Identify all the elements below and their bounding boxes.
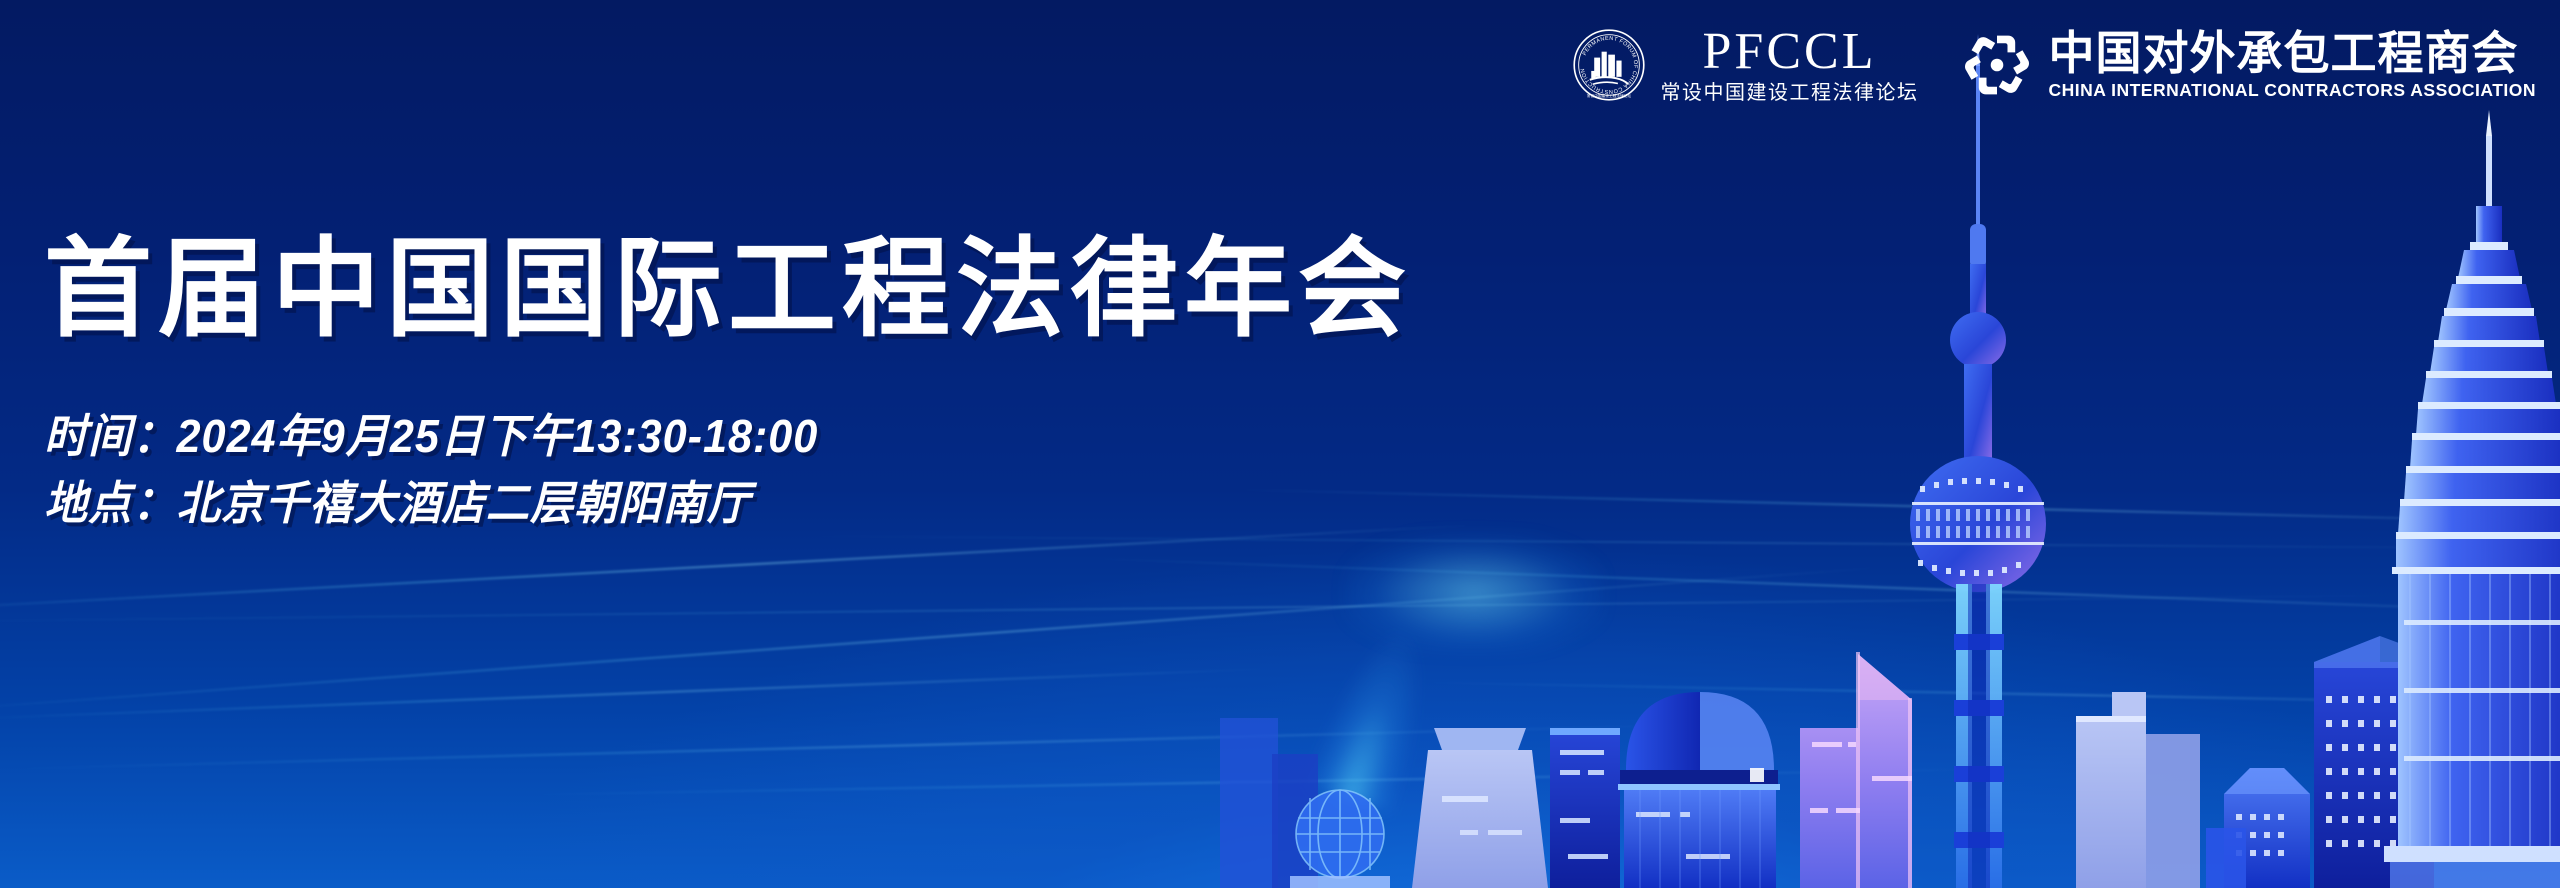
event-details: 时间：2024年9月25日下午13:30-18:00 地点：北京千禧大酒店二层朝… xyxy=(44,403,1412,536)
event-time: 时间：2024年9月25日下午13:30-18:00 xyxy=(44,403,1330,470)
pfccl-acronym: PFCCL xyxy=(1702,26,1876,78)
city-skyline-illustration xyxy=(1220,28,2560,888)
cica-logo: 中国对外承包工程商会 CHINA INTERNATIONAL CONTRACTO… xyxy=(1962,30,2536,100)
cica-pinwheel-icon xyxy=(1962,30,2032,100)
window-slab-left xyxy=(1550,728,1620,888)
cica-chinese-name: 中国对外承包工程商会 xyxy=(2048,30,2536,76)
conference-banner: PERMANENT FORUM OF CHINA CONSTRUCTION LA… xyxy=(0,0,2560,888)
event-place: 地点：北京千禧大酒店二层朝阳南厅 xyxy=(44,470,1330,537)
pfccl-chinese-name: 常设中国建设工程法律论坛 xyxy=(1660,83,1918,103)
pfccl-logo: PERMANENT FORUM OF CHINA CONSTRUCTION LA… xyxy=(1572,26,1918,103)
curved-crown-building xyxy=(1618,666,1780,888)
page-title: 首届中国国际工程法律年会 xyxy=(44,232,1412,345)
logo-row: PERMANENT FORUM OF CHINA CONSTRUCTION LA… xyxy=(1572,26,2536,103)
cica-english-name: CHINA INTERNATIONAL CONTRACTORS ASSOCIAT… xyxy=(2048,82,2536,100)
pfccl-seal-icon: PERMANENT FORUM OF CHINA CONSTRUCTION LA… xyxy=(1572,28,1646,102)
mid-block-group xyxy=(2076,692,2200,888)
oriental-pearl-tower xyxy=(1910,34,2046,888)
faceted-tower xyxy=(2206,768,2310,888)
taipei-101-style-tower xyxy=(2384,110,2560,888)
svg-text:常设中国建设工程法律论坛: 常设中国建设工程法律论坛 xyxy=(1587,92,1632,97)
tapered-tower xyxy=(1412,728,1548,888)
banner-text-block: 首届中国国际工程法律年会 时间：2024年9月25日下午13:30-18:00 … xyxy=(44,232,1412,537)
violet-angled-tower xyxy=(1800,652,1912,888)
